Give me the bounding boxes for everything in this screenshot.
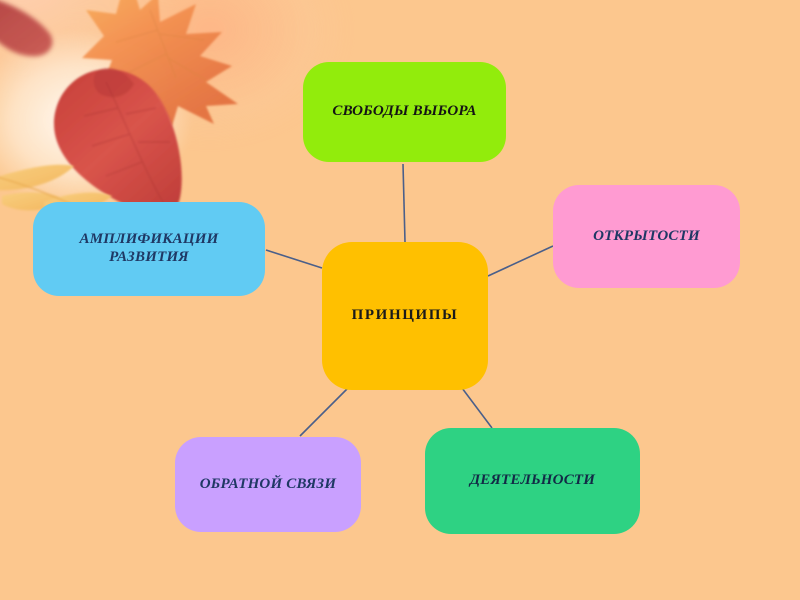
node-obratnoy-svyazi[interactable]: ОБРАТНОЙ СВЯЗИ [175,437,361,532]
node-label: ОТКРЫТОСТИ [593,228,700,246]
connector-center-to-left [266,250,322,268]
node-amplifikacii-razvitiya[interactable]: АМПЛИФИКАЦИИ РАЗВИТИЯ [33,202,265,296]
node-label: СВОБОДЫ ВЫБОРА [332,103,476,121]
slide-canvas: СВОБОДЫ ВЫБОРА ОТКРЫТОСТИ АМПЛИФИКАЦИИ Р… [0,0,800,600]
connector-center-to-bottom-left [300,388,348,436]
node-label: ОБРАТНОЙ СВЯЗИ [200,476,336,494]
node-label: АМПЛИФИКАЦИИ РАЗВИТИЯ [80,231,219,266]
node-svobody-vybora[interactable]: СВОБОДЫ ВЫБОРА [303,62,506,162]
connector-center-to-right [488,246,553,276]
node-label-line1: АМПЛИФИКАЦИИ [80,231,219,247]
node-principy-center[interactable]: ПРИНЦИПЫ [322,242,488,390]
node-label-line2: РАЗВИТИЯ [109,249,189,265]
node-deyatelnosti[interactable]: ДЕЯТЕЛЬНОСТИ [425,428,640,534]
connector-center-to-top [403,164,405,242]
node-label: ДЕЯТЕЛЬНОСТИ [470,472,595,490]
node-otkrytosti[interactable]: ОТКРЫТОСТИ [553,185,740,288]
center-node-label: ПРИНЦИПЫ [352,307,459,325]
connector-center-to-bottom-right [462,388,492,428]
